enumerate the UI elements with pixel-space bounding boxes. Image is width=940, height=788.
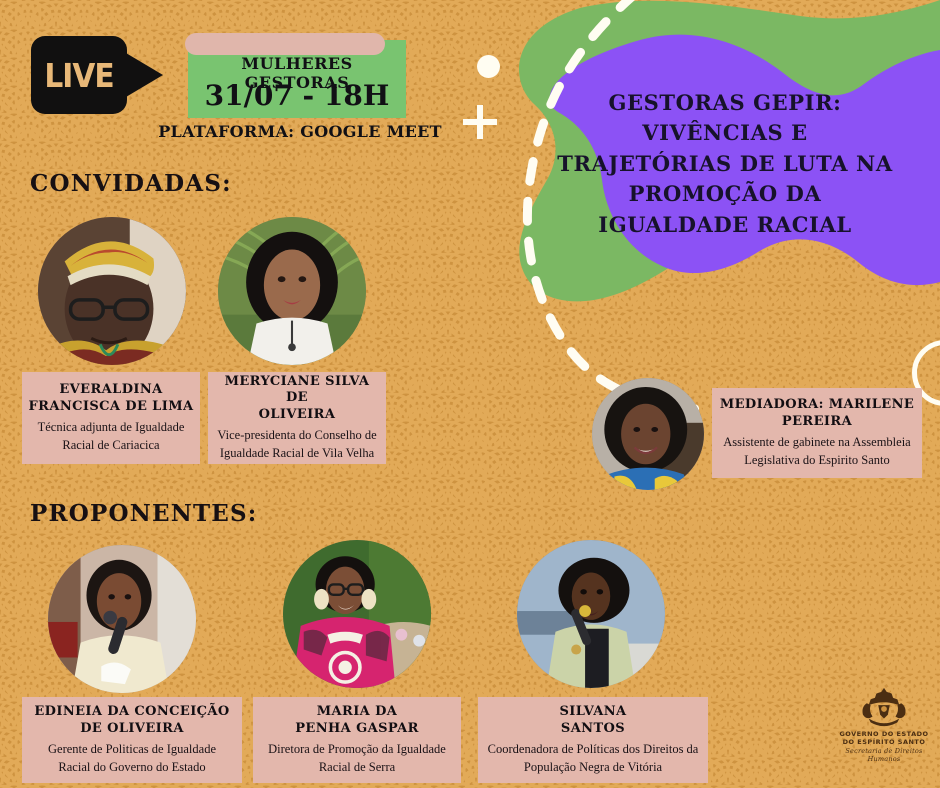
logo-line-2: DO ESPÍRITO SANTO — [843, 738, 926, 746]
government-logo: GOVERNO DO ESTADO DO ESPÍRITO SANTO Secr… — [838, 686, 930, 770]
title-line-4: PROMOÇÃO DA — [545, 179, 905, 209]
page-title: GESTORAS GEPIR: VIVÊNCIAS E TRAJETÓRIAS … — [545, 88, 905, 240]
guest-role: Técnica adjunta de Igualdade Racial de C… — [38, 418, 185, 454]
title-line-3: TRAJETÓRIAS DE LUTA NA — [545, 149, 905, 179]
pink-brush-stroke-decoration — [185, 33, 385, 55]
guest-role: Vice-presidenta do Conselho de Igualdade… — [217, 426, 376, 462]
proposer-name: EDINEIA DA CONCEIÇÃO DE OLIVEIRA — [34, 704, 229, 738]
logo-line-3: Secretaria de Direitos Humanos — [838, 747, 930, 763]
avatar-edineia — [48, 545, 196, 693]
mediator-role: Assistente de gabinete na Assembleia Leg… — [723, 433, 910, 469]
proposer-role: Gerente de Politicas de Igualdade Racial… — [48, 740, 216, 776]
avatar-silvana — [517, 540, 665, 688]
event-poster: LIVE MULHERES GESTORAS 31/07 - 18H PLATA… — [0, 0, 940, 788]
avatar-maria-da-penha — [283, 540, 431, 688]
mediator-name: MEDIADORA: MARILENE PEREIRA — [720, 397, 914, 431]
banner-platform: PLATAFORMA: GOOGLE MEET — [150, 122, 450, 141]
avatar-marilene — [592, 378, 704, 490]
title-line-1: GESTORAS GEPIR: — [545, 88, 905, 118]
guest-name: MERYCIANE SILVA DE OLIVEIRA — [214, 374, 380, 425]
guest-name: EVERALDINA FRANCISCA DE LIMA — [29, 382, 194, 416]
guests-section-heading: CONVIDADAS: — [30, 170, 232, 197]
avatar-everaldina — [38, 217, 186, 365]
proposers-section-heading: PROPONENTES: — [30, 500, 258, 527]
mediator-card: MEDIADORA: MARILENE PEREIRA Assistente d… — [712, 388, 922, 478]
guest-card-everaldina: EVERALDINA FRANCISCA DE LIMA Técnica adj… — [22, 372, 200, 464]
proposer-role: Coordenadora de Políticas dos Direitos d… — [488, 740, 699, 776]
avatar-meryciane — [218, 217, 366, 365]
proposer-card-edineia: EDINEIA DA CONCEIÇÃO DE OLIVEIRA Gerente… — [22, 697, 242, 783]
guest-card-meryciane: MERYCIANE SILVA DE OLIVEIRA Vice-preside… — [208, 372, 386, 464]
proposer-name: SILVANA SANTOS — [559, 704, 626, 738]
proposer-card-maria-da-penha: MARIA DA PENHA GASPAR Diretora de Promoç… — [253, 697, 461, 783]
proposer-role: Diretora de Promoção da Igualdade Racial… — [268, 740, 446, 776]
banner-date-time: 31/07 - 18H — [188, 79, 406, 112]
video-camera-icon-lens — [121, 50, 163, 100]
live-label: LIVE — [31, 36, 127, 114]
proposer-name: MARIA DA PENHA GASPAR — [295, 704, 419, 738]
coat-of-arms-icon — [855, 686, 913, 730]
white-dot-decoration — [477, 55, 500, 78]
live-badge: LIVE — [31, 36, 161, 114]
proposer-card-silvana: SILVANA SANTOS Coordenadora de Políticas… — [478, 697, 708, 783]
logo-line-1: GOVERNO DO ESTADO — [839, 730, 928, 738]
white-plus-decoration — [463, 105, 497, 139]
title-line-5: IGUALDADE RACIAL — [545, 210, 905, 240]
title-line-2: VIVÊNCIAS E — [545, 118, 905, 148]
